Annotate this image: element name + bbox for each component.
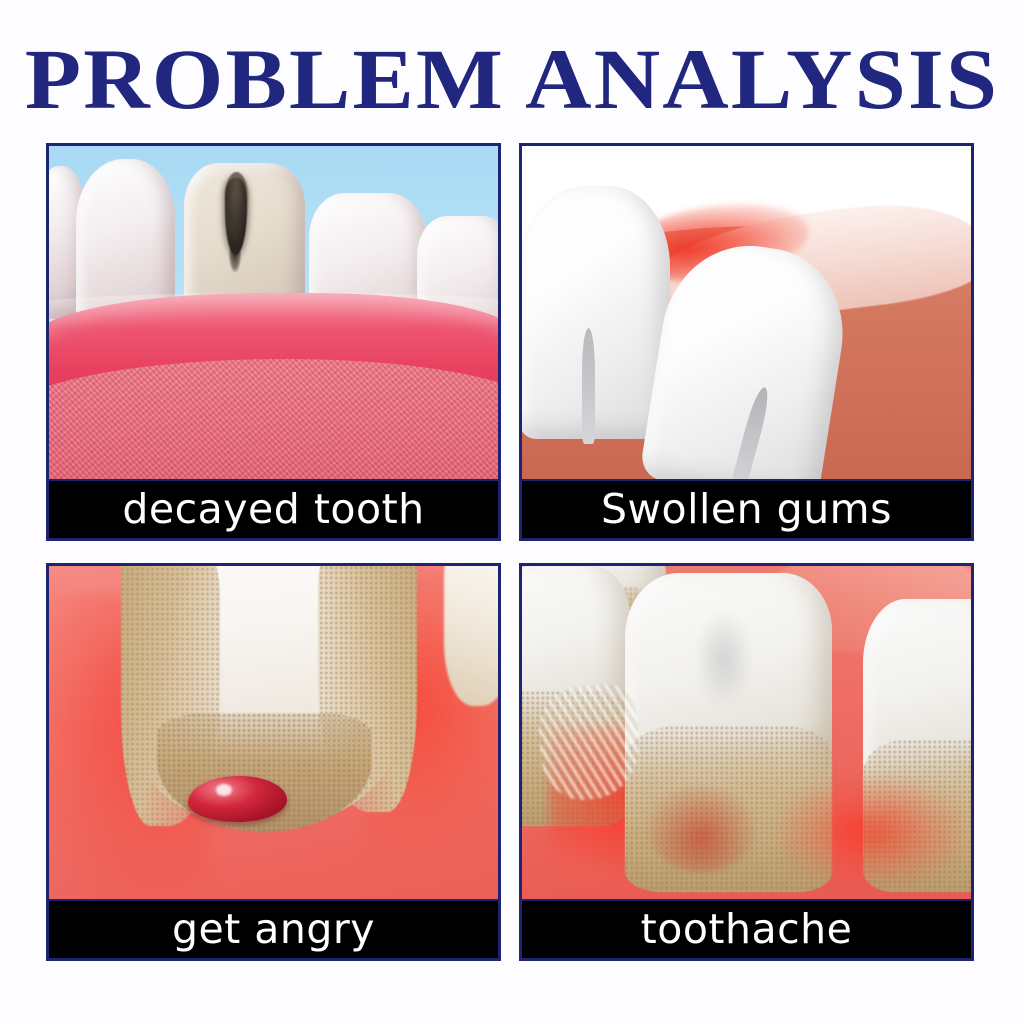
root-split-right — [730, 385, 772, 481]
pain-glow-right — [782, 779, 962, 886]
caption-bar-get-angry: get angry — [49, 901, 498, 958]
caption-label: toothache — [641, 909, 853, 950]
problem-panel-grid: decayed tooth Swollen gums — [46, 143, 974, 961]
tongue-tissue — [49, 359, 498, 481]
panel-toothache[interactable]: toothache — [519, 563, 974, 961]
blood-droplet — [188, 776, 287, 823]
caption-bar-decayed-tooth: decayed tooth — [49, 481, 498, 538]
illustration-swollen-gums — [522, 146, 971, 481]
page-title: PROBLEM ANALYSIS — [0, 36, 1024, 122]
caption-label: Swollen gums — [601, 489, 892, 530]
root-split-left — [582, 328, 596, 444]
inflamed-margin — [648, 786, 756, 873]
illustration-get-angry — [49, 566, 498, 901]
cusp-shading — [695, 611, 753, 707]
panel-swollen-gums[interactable]: Swollen gums — [519, 143, 974, 541]
caption-bar-toothache: toothache — [522, 901, 971, 958]
decay-cavity — [225, 178, 247, 255]
molar-left — [522, 186, 670, 439]
panel-get-angry[interactable]: get angry — [46, 563, 501, 961]
illustration-toothache — [522, 566, 971, 901]
neighbor-tooth — [444, 566, 498, 706]
caption-bar-swollen-gums: Swollen gums — [522, 481, 971, 538]
caption-label: decayed tooth — [122, 489, 424, 530]
problem-analysis-poster: PROBLEM ANALYSIS decayed tooth — [0, 0, 1024, 1024]
caption-label: get angry — [172, 909, 375, 950]
illustration-decayed-tooth — [49, 146, 498, 481]
panel-decayed-tooth[interactable]: decayed tooth — [46, 143, 501, 541]
